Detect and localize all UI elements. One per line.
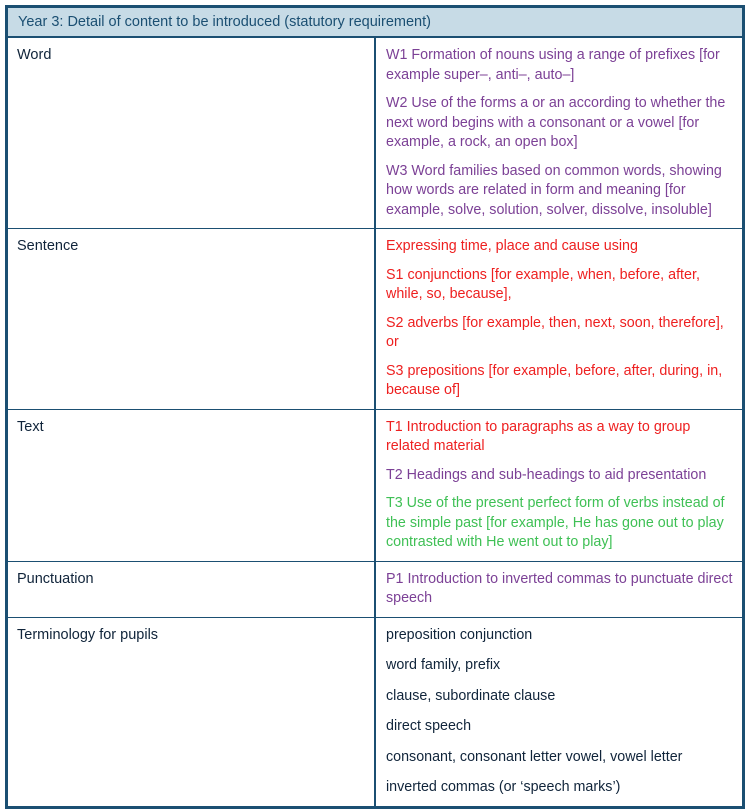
content-line: S3 prepositions [for example, before, af… — [386, 362, 734, 401]
row-label-punctuation: Punctuation — [7, 561, 376, 617]
row-label-text: Text — [7, 409, 376, 561]
content-line: P1 Introduction to inverted commas to pu… — [386, 570, 734, 609]
terminology-item: preposition conjunction — [386, 626, 734, 646]
page-container: Year 3: Detail of content to be introduc… — [0, 0, 752, 594]
table-row-punctuation: Punctuation P1 Introduction to inverted … — [7, 561, 744, 617]
table-header-cell: Year 3: Detail of content to be introduc… — [7, 7, 744, 38]
row-content-terminology: preposition conjunction word family, pre… — [375, 617, 744, 807]
row-label-terminology: Terminology for pupils — [7, 617, 376, 807]
content-line: W1 Formation of nouns using a range of p… — [386, 46, 734, 85]
content-line: T3 Use of the present perfect form of ve… — [386, 494, 734, 553]
row-label-word: Word — [7, 37, 376, 229]
terminology-item: word family, prefix — [386, 656, 734, 676]
table-row-text: Text T1 Introduction to paragraphs as a … — [7, 409, 744, 561]
row-label-punctuation-text: Punctuation — [17, 570, 368, 589]
row-content-word: W1 Formation of nouns using a range of p… — [375, 37, 744, 229]
row-content-sentence: Expressing time, place and cause using S… — [375, 229, 744, 410]
row-label-sentence-text: Sentence — [17, 237, 368, 256]
content-line: T2 Headings and sub-headings to aid pres… — [386, 466, 734, 486]
terminology-item: clause, subordinate clause — [386, 687, 734, 707]
content-line: T1 Introduction to paragraphs as a way t… — [386, 418, 734, 457]
content-line: Expressing time, place and cause using — [386, 237, 734, 257]
terminology-item: direct speech — [386, 717, 734, 737]
row-label-word-text: Word — [17, 46, 368, 65]
grammar-requirements-table: Year 3: Detail of content to be introduc… — [5, 5, 745, 809]
table-header-row: Year 3: Detail of content to be introduc… — [7, 7, 744, 38]
content-line: S1 conjunctions [for example, when, befo… — [386, 266, 734, 305]
row-label-sentence: Sentence — [7, 229, 376, 410]
table-row-word: Word W1 Formation of nouns using a range… — [7, 37, 744, 229]
terminology-item: inverted commas (or ‘speech marks’) — [386, 778, 734, 798]
content-line: W3 Word families based on common words, … — [386, 162, 734, 221]
row-label-text-text: Text — [17, 418, 368, 437]
table-row-sentence: Sentence Expressing time, place and caus… — [7, 229, 744, 410]
terminology-item: consonant, consonant letter vowel, vowel… — [386, 748, 734, 768]
page-title: Year 3: Detail of content to be introduc… — [18, 13, 732, 32]
row-label-terminology-text: Terminology for pupils — [17, 626, 368, 645]
table-row-terminology: Terminology for pupils preposition conju… — [7, 617, 744, 807]
row-content-punctuation: P1 Introduction to inverted commas to pu… — [375, 561, 744, 617]
content-line: W2 Use of the forms a or an according to… — [386, 94, 734, 153]
row-content-text: T1 Introduction to paragraphs as a way t… — [375, 409, 744, 561]
content-line: S2 adverbs [for example, then, next, soo… — [386, 314, 734, 353]
